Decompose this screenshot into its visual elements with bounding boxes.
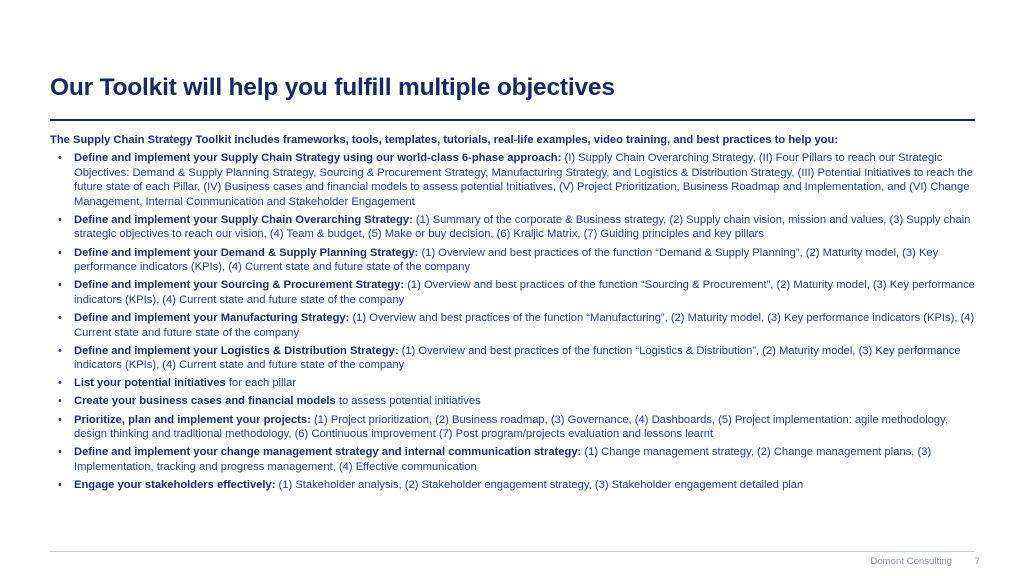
list-item: •Define and implement your Supply Chain …	[50, 151, 980, 209]
list-item-lead: Prioritize, plan and implement your proj…	[74, 414, 311, 426]
bullet-marker-icon: •	[58, 278, 62, 293]
bullet-marker-icon: •	[58, 445, 62, 460]
objectives-list: •Define and implement your Supply Chain …	[50, 151, 980, 496]
bullet-marker-icon: •	[58, 413, 62, 428]
list-item-detail: for each pillar	[226, 377, 296, 389]
list-item-lead: Engage your stakeholders effectively:	[74, 479, 275, 491]
bullet-marker-icon: •	[58, 478, 62, 493]
list-item-lead: Define and implement your Sourcing & Pro…	[74, 279, 404, 291]
list-item-lead: Define and implement your Logistics & Di…	[74, 345, 398, 357]
bullet-marker-icon: •	[58, 344, 62, 359]
bullet-marker-icon: •	[58, 213, 62, 228]
list-item-detail: (1) Stakeholder analysis, (2) Stakeholde…	[275, 479, 803, 491]
title-divider	[50, 119, 975, 121]
list-item: •Engage your stakeholders effectively: (…	[50, 478, 980, 493]
list-item-lead: Define and implement your Supply Chain S…	[74, 152, 561, 164]
list-item-lead: Define and implement your change managem…	[74, 446, 581, 458]
list-item: •Define and implement your Logistics & D…	[50, 344, 980, 373]
bullet-marker-icon: •	[58, 151, 62, 166]
list-item: •Define and implement your Supply Chain …	[50, 213, 980, 242]
footer-brand: Domont Consulting	[870, 556, 952, 567]
bullet-marker-icon: •	[58, 246, 62, 261]
footer-divider	[50, 551, 975, 552]
list-item: •Define and implement your Manufacturing…	[50, 311, 980, 340]
intro-paragraph: The Supply Chain Strategy Toolkit includ…	[50, 133, 980, 147]
list-item: •Define and implement your change manage…	[50, 445, 980, 474]
list-item-lead: Create your business cases and financial…	[74, 395, 336, 407]
bullet-marker-icon: •	[58, 376, 62, 391]
page-title: Our Toolkit will help you fulfill multip…	[50, 74, 615, 102]
list-item-lead: List your potential initiatives	[74, 377, 226, 389]
bullet-marker-icon: •	[58, 394, 62, 409]
list-item: •Define and implement your Sourcing & Pr…	[50, 278, 980, 307]
list-item-lead: Define and implement your Supply Chain O…	[74, 214, 413, 226]
slide-canvas: Our Toolkit will help you fulfill multip…	[0, 0, 1024, 576]
footer-page-number: 7	[975, 556, 980, 567]
list-item: •Define and implement your Demand & Supp…	[50, 246, 980, 275]
list-item-detail: to assess potential initiatives	[336, 395, 481, 407]
list-item: •List your potential initiatives for eac…	[50, 376, 980, 391]
list-item-lead: Define and implement your Manufacturing …	[74, 312, 349, 324]
list-item: •Prioritize, plan and implement your pro…	[50, 413, 980, 442]
bullet-marker-icon: •	[58, 311, 62, 326]
list-item: •Create your business cases and financia…	[50, 394, 980, 409]
list-item-lead: Define and implement your Demand & Suppl…	[74, 247, 418, 259]
